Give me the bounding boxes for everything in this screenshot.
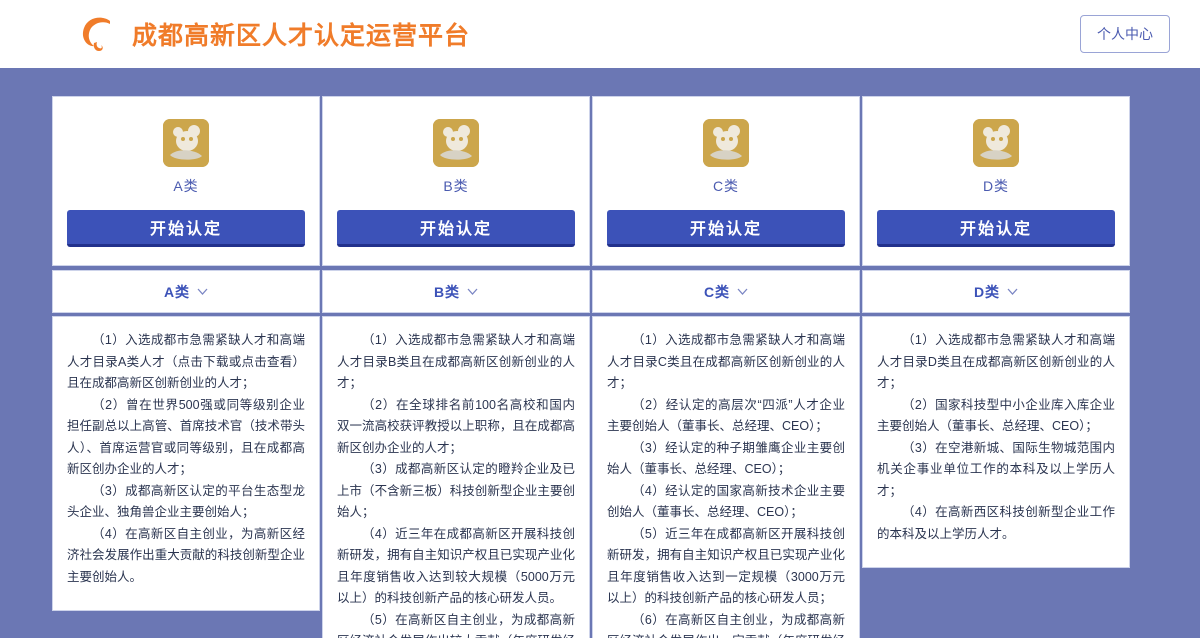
talent-card-c: C类 开始认定 C类 （1）入选成都市急需紧缺人才和高端人才目录C类且在成都高新… — [592, 96, 860, 638]
criteria-list-c: （1）入选成都市急需紧缺人才和高端人才目录C类且在成都高新区创新创业的人才； （… — [592, 316, 860, 638]
criteria-item: （5）在高新区自主创业，为成都高新区经济社会发展作出较大贡献（年度研发经费投入5… — [337, 610, 575, 638]
criteria-item: （3）经认定的种子期雏鹰企业主要创始人（董事长、总经理、CEO）； — [607, 438, 845, 481]
card-top-d: D类 开始认定 — [862, 96, 1130, 266]
criteria-item: （3）成都高新区认定的平台生态型龙头企业、独角兽企业主要创始人； — [67, 481, 305, 524]
criteria-item: （1）入选成都市急需紧缺人才和高端人才目录C类且在成都高新区创新创业的人才； — [607, 330, 845, 395]
panda-icon — [433, 119, 479, 167]
chevron-down-icon — [737, 288, 748, 295]
brand-swoosh-icon — [78, 13, 118, 55]
criteria-item: （2）曾在世界500强或同等级别企业担任副总以上高管、首席技术官（技术带头人）、… — [67, 395, 305, 481]
chevron-down-icon — [197, 288, 208, 295]
collapse-label: A类 — [164, 282, 190, 302]
criteria-item: （3）在空港新城、国际生物城范围内机关企事业单位工作的本科及以上学历人才； — [877, 438, 1115, 503]
criteria-list-b: （1）入选成都市急需紧缺人才和高端人才目录B类且在成都高新区创新创业的人才； （… — [322, 316, 590, 638]
criteria-item: （5）近三年在成都高新区开展科技创新研发，拥有自主知识产权且已实现产业化且年度销… — [607, 524, 845, 610]
criteria-item: （4）经认定的国家高新技术企业主要创始人（董事长、总经理、CEO）； — [607, 481, 845, 524]
cards-row: A类 开始认定 A类 （1）入选成都市急需紧缺人才和高端人才目录A类人才（点击下… — [0, 96, 1200, 638]
collapse-header-b[interactable]: B类 — [322, 270, 590, 313]
criteria-item: （2）国家科技型中小企业库入库企业主要创始人（董事长、总经理、CEO）； — [877, 395, 1115, 438]
criteria-item: （3）成都高新区认定的瞪羚企业及已上市（不含新三板）科技创新型企业主要创始人； — [337, 459, 575, 524]
talent-card-a: A类 开始认定 A类 （1）入选成都市急需紧缺人才和高端人才目录A类人才（点击下… — [52, 96, 320, 611]
category-label: B类 — [443, 176, 468, 196]
panda-icon — [163, 119, 209, 167]
start-certification-button[interactable]: 开始认定 — [337, 210, 575, 247]
collapse-label: B类 — [434, 282, 460, 302]
collapse-label: D类 — [974, 282, 1000, 302]
collapse-header-d[interactable]: D类 — [862, 270, 1130, 313]
category-label: D类 — [983, 176, 1009, 196]
collapse-header-a[interactable]: A类 — [52, 270, 320, 313]
talent-card-b: B类 开始认定 B类 （1）入选成都市急需紧缺人才和高端人才目录B类且在成都高新… — [322, 96, 590, 638]
criteria-item: （2）经认定的高层次“四派”人才企业主要创始人（董事长、总经理、CEO）； — [607, 395, 845, 438]
criteria-item: （4）在高新区自主创业，为高新区经济社会发展作出重大贡献的科技创新型企业主要创始… — [67, 524, 305, 589]
chevron-down-icon — [467, 288, 478, 295]
page-title: 成都高新区人才认定运营平台 — [132, 16, 470, 52]
panda-icon — [703, 119, 749, 167]
start-certification-button[interactable]: 开始认定 — [877, 210, 1115, 247]
criteria-list-d: （1）入选成都市急需紧缺人才和高端人才目录D类且在成都高新区创新创业的人才； （… — [862, 316, 1130, 568]
criteria-item: （1）入选成都市急需紧缺人才和高端人才目录D类且在成都高新区创新创业的人才； — [877, 330, 1115, 395]
chevron-down-icon — [1007, 288, 1018, 295]
criteria-item: （4）在高新西区科技创新型企业工作的本科及以上学历人才。 — [877, 502, 1115, 545]
card-top-a: A类 开始认定 — [52, 96, 320, 266]
app-header: 成都高新区人才认定运营平台 个人中心 — [0, 0, 1200, 68]
criteria-item: （6）在高新区自主创业，为成都高新区经济社会发展作出一定贡献（年度研发经费投入2… — [607, 610, 845, 638]
collapse-header-c[interactable]: C类 — [592, 270, 860, 313]
criteria-item: （1）入选成都市急需紧缺人才和高端人才目录B类且在成都高新区创新创业的人才； — [337, 330, 575, 395]
criteria-list-a: （1）入选成都市急需紧缺人才和高端人才目录A类人才（点击下载或点击查看）且在成都… — [52, 316, 320, 611]
cards-board: A类 开始认定 A类 （1）入选成都市急需紧缺人才和高端人才目录A类人才（点击下… — [0, 68, 1200, 638]
criteria-item: （4）近三年在成都高新区开展科技创新研发，拥有自主知识产权且已实现产业化且年度销… — [337, 524, 575, 610]
panda-icon — [973, 119, 1019, 167]
brand: 成都高新区人才认定运营平台 — [78, 13, 470, 55]
start-certification-button[interactable]: 开始认定 — [67, 210, 305, 247]
criteria-item: （1）入选成都市急需紧缺人才和高端人才目录A类人才（点击下载或点击查看）且在成都… — [67, 330, 305, 395]
talent-card-d: D类 开始认定 D类 （1）入选成都市急需紧缺人才和高端人才目录D类且在成都高新… — [862, 96, 1130, 568]
category-label: A类 — [173, 176, 198, 196]
collapse-label: C类 — [704, 282, 730, 302]
category-label: C类 — [713, 176, 739, 196]
start-certification-button[interactable]: 开始认定 — [607, 210, 845, 247]
criteria-item: （2）在全球排名前100名高校和国内双一流高校获评教授以上职称，且在成都高新区创… — [337, 395, 575, 460]
card-top-b: B类 开始认定 — [322, 96, 590, 266]
card-top-c: C类 开始认定 — [592, 96, 860, 266]
personal-center-button[interactable]: 个人中心 — [1080, 15, 1170, 53]
